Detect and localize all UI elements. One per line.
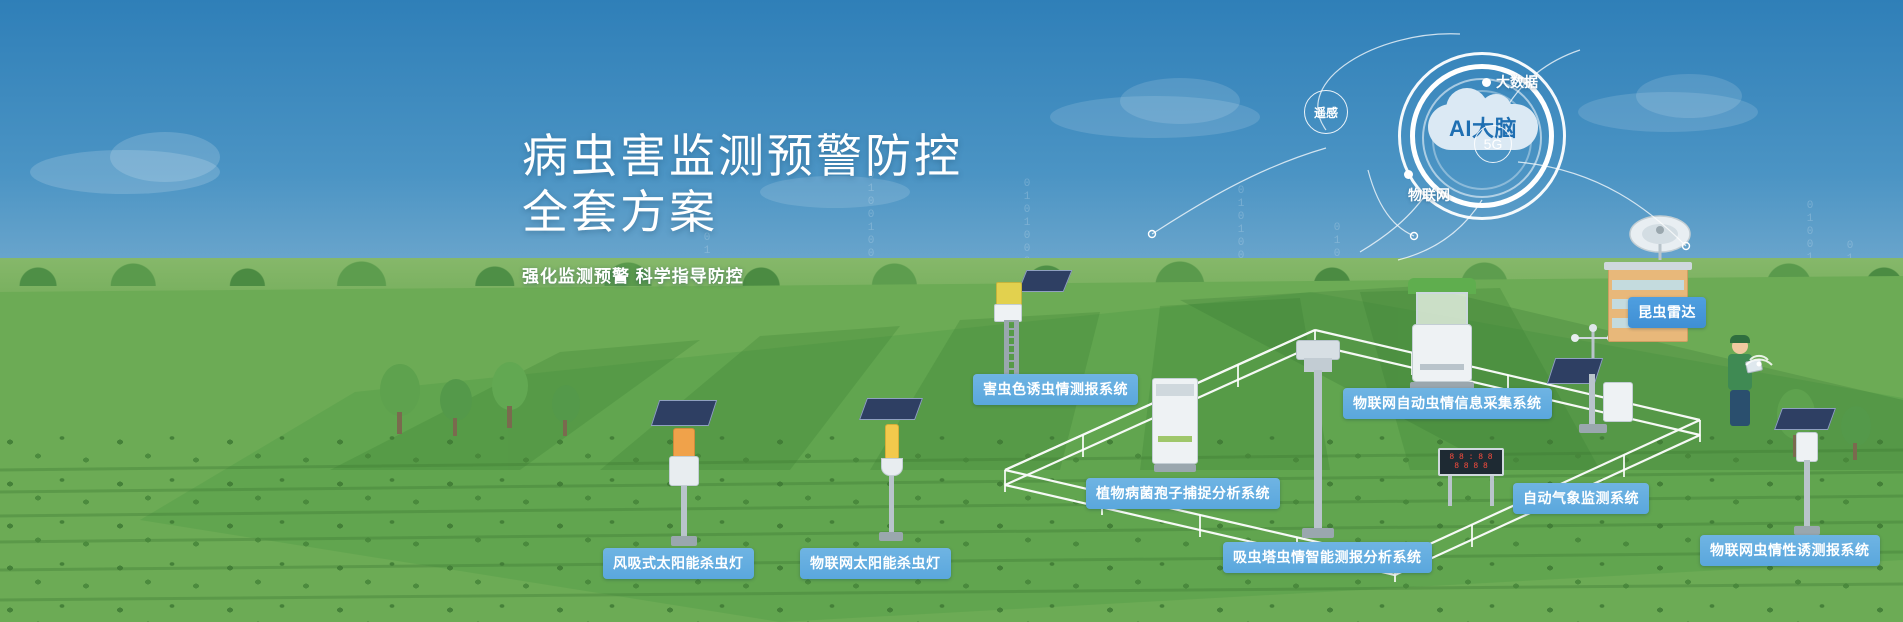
label-automatic-weather-monitoring-system[interactable]: 自动气象监测系统 — [1513, 483, 1649, 514]
label-suction-tower-intelligent-forecast-analysis-system[interactable]: 吸虫塔虫情智能测报分析系统 — [1223, 542, 1432, 573]
label-iot-automatic-pest-info-collection-system[interactable]: 物联网自动虫情信息采集系统 — [1343, 388, 1552, 419]
led-screen: 8 8 : 8 8 8 8 8 8 — [1438, 448, 1504, 476]
equipment-wind-suction-solar-insect-lamp[interactable] — [645, 400, 725, 550]
tower-mast — [1314, 370, 1322, 530]
led-pole-right — [1490, 476, 1494, 506]
lamp-pole — [889, 476, 894, 534]
label-iot-solar-insect-lamp[interactable]: 物联网太阳能杀虫灯 — [800, 548, 951, 579]
banner-subtitle: 强化监测预警 科学指导防控 — [522, 262, 963, 287]
collector-body — [1412, 324, 1472, 382]
label-insect-radar[interactable]: 昆虫雷达 — [1628, 297, 1706, 328]
label-pest-color-trap-forecast-system[interactable]: 害虫色诱虫情测报系统 — [973, 374, 1138, 405]
trap-box-yellow — [996, 282, 1022, 306]
tower-head — [1296, 340, 1340, 360]
equipment-iot-solar-insect-lamp[interactable] — [855, 398, 935, 548]
weather-base — [1579, 424, 1607, 433]
spore-cabinet-panel — [1156, 384, 1194, 396]
lamp-pole — [681, 486, 687, 538]
pheromone-trap-body — [1796, 432, 1818, 462]
node-iot-label: 物联网 — [1408, 185, 1450, 205]
node-remote-sensing-label: 遥感 — [1314, 104, 1338, 121]
node-big-data-dot — [1482, 78, 1491, 87]
led-pole-left — [1448, 476, 1452, 506]
spore-cabinet-vent — [1158, 436, 1192, 442]
solar-panel-icon — [1774, 408, 1836, 430]
led-row-1: 8 8 : 8 8 — [1449, 453, 1492, 462]
node-5g-label: 5G — [1484, 136, 1503, 152]
label-iot-pest-pheromone-forecast-system[interactable]: 物联网虫情性诱测报系统 — [1700, 535, 1880, 566]
lamp-housing — [669, 456, 699, 486]
node-big-data-label: 大数据 — [1496, 72, 1538, 92]
solar-panel-icon — [1018, 270, 1073, 292]
pheromone-base — [1794, 526, 1820, 535]
spore-cabinet-base — [1154, 464, 1196, 472]
equipment-plant-pathogen-spore-capture-analysis-system[interactable] — [1152, 378, 1212, 488]
led-row-2: 8 8 8 8 — [1454, 462, 1488, 471]
lamp-base — [671, 536, 697, 546]
title-line-2: 全套方案 — [522, 184, 963, 240]
lamp-base — [879, 532, 903, 541]
worker-legs — [1730, 390, 1750, 426]
led-display-board[interactable]: 8 8 : 8 8 8 8 8 8 — [1438, 448, 1508, 488]
lamp-collector — [881, 458, 903, 476]
label-wind-suction-solar-insect-lamp[interactable]: 风吸式太阳能杀虫灯 — [603, 548, 754, 579]
node-5g[interactable]: 5G — [1474, 125, 1512, 163]
solar-panel-icon — [651, 400, 717, 426]
infographic-banner: 010010011100 010100101110 0101000100100 … — [0, 0, 1903, 622]
weather-mast — [1589, 374, 1595, 426]
equipment-iot-pest-pheromone-forecast-system[interactable] — [1770, 408, 1860, 548]
equipment-suction-tower-intelligent-forecast-analysis-system[interactable] — [1282, 340, 1362, 550]
ladder-rungs — [1004, 320, 1019, 376]
banner-title-block: 病虫害监测预警防控 全套方案 强化监测预警 科学指导防控 — [522, 128, 963, 287]
weather-controller-box — [1603, 382, 1633, 422]
node-iot-dot — [1404, 170, 1413, 179]
pheromone-pole — [1804, 460, 1810, 528]
label-plant-pathogen-spore-capture-analysis-system[interactable]: 植物病菌孢子捕捉分析系统 — [1086, 478, 1280, 509]
title-line-1: 病虫害监测预警防控 — [522, 128, 963, 184]
node-remote-sensing[interactable]: 遥感 — [1304, 90, 1348, 134]
solar-panel-icon — [859, 398, 923, 420]
collector-slot — [1420, 364, 1464, 370]
wifi-signal-icon — [1742, 336, 1792, 376]
lamp-tube — [885, 424, 899, 460]
tower-base — [1302, 528, 1334, 538]
equipment-pest-color-trap-forecast-system[interactable] — [988, 270, 1078, 380]
